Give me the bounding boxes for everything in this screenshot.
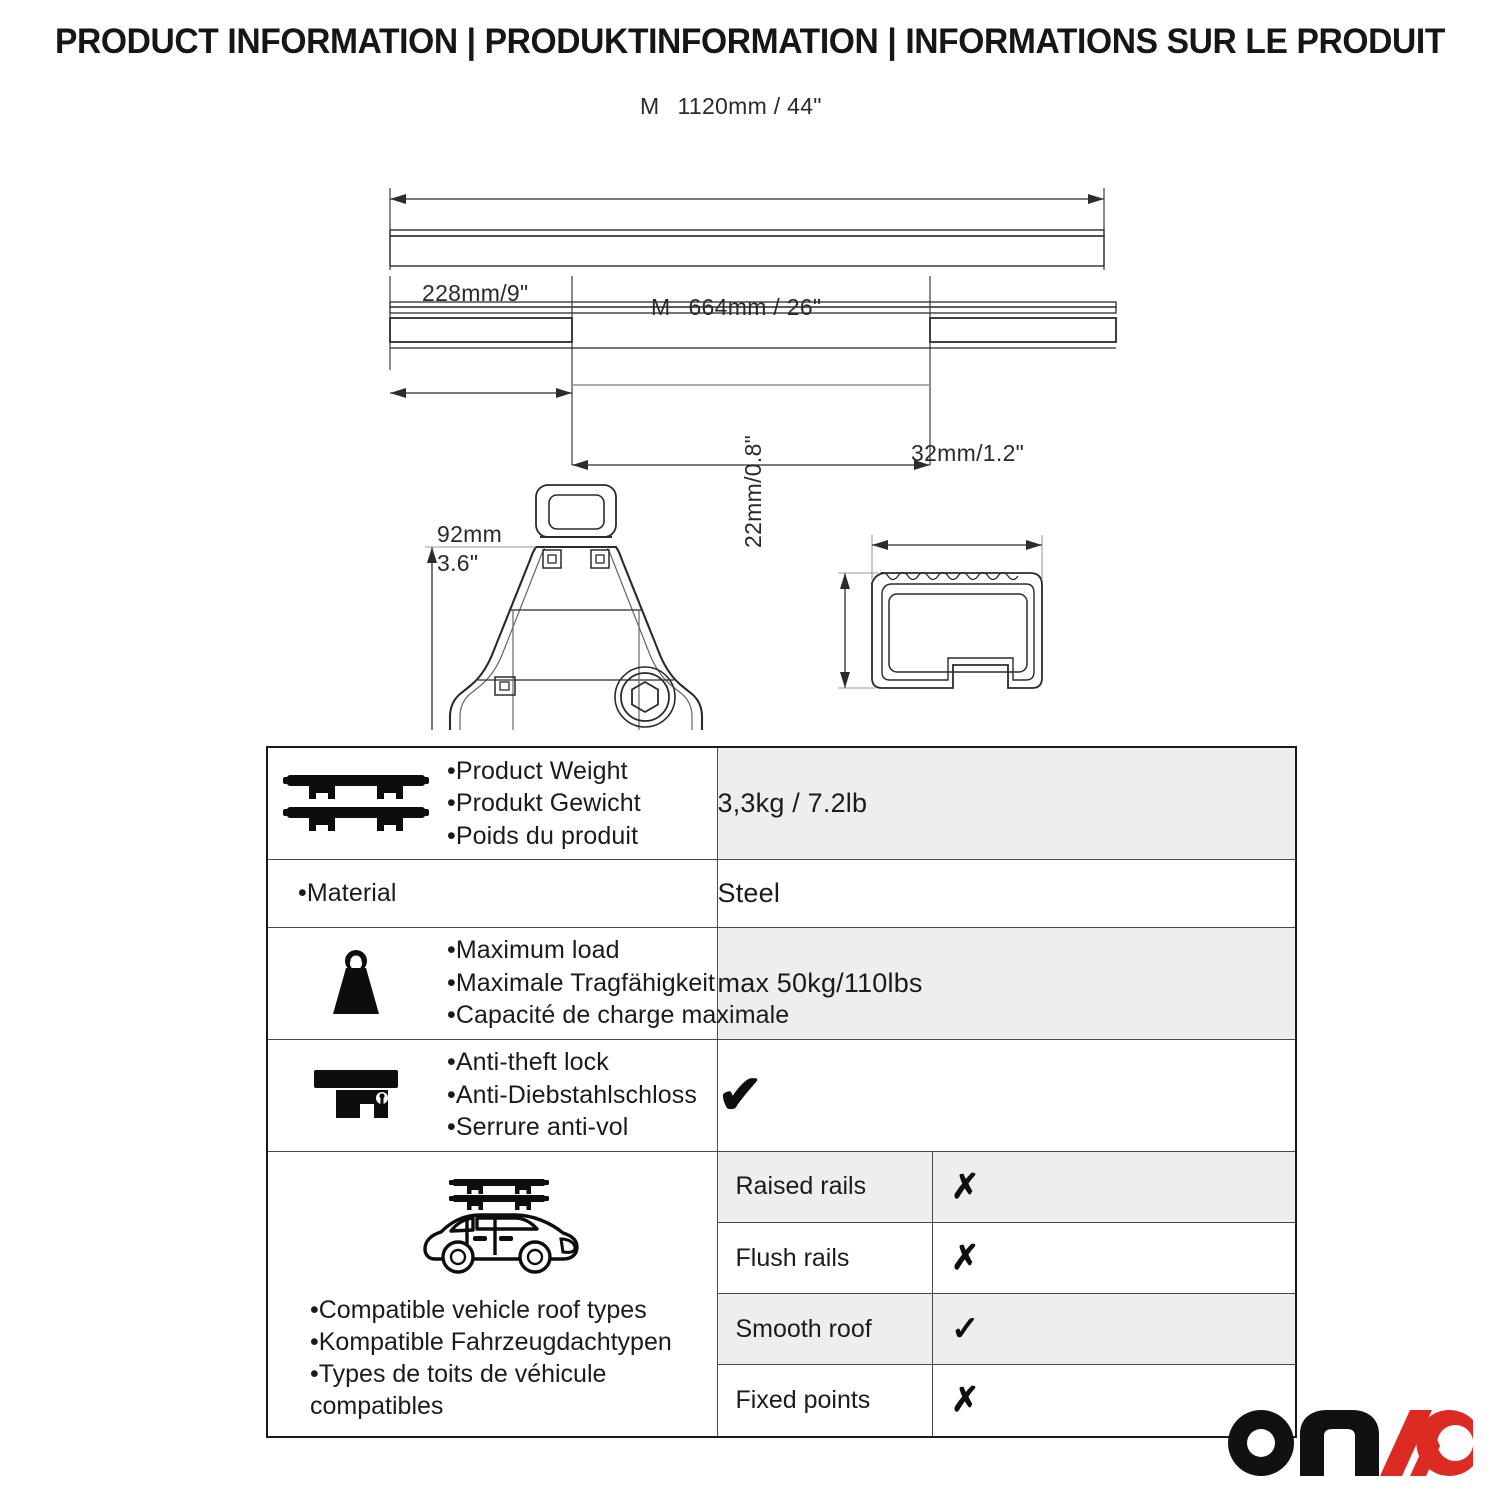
dim-foot-offset: 228mm/9" [422, 280, 528, 307]
weight-value: 3,3kg / 7.2lb [717, 747, 1296, 859]
roof-option-row: Smooth roof ✓ [718, 1294, 1296, 1365]
check-mark-icon: ✔ [718, 1065, 763, 1125]
label-line: •Product Weight [447, 755, 641, 788]
dim-spread-prefix: M [651, 294, 670, 320]
roof-option-mark-cell: ✗ [933, 1223, 1296, 1294]
label-line: •Compatible vehicle roof types [310, 1294, 672, 1326]
roof-option-name: Smooth roof [718, 1294, 933, 1365]
car-with-rack-icon [411, 1173, 586, 1288]
dim-foot-height-in: 3.6" [437, 549, 502, 578]
max-load-label-text: •Maximum load •Maximale Tragfähigkeit •C… [447, 934, 789, 1032]
label-line: •Poids du produit [447, 820, 641, 853]
roof-types-sub-table: Raised rails ✗ Flush rails ✗ [718, 1152, 1296, 1436]
material-label-text: •Material [268, 877, 397, 910]
technical-drawings [0, 80, 1500, 730]
label-line: •Capacité de charge maximale [447, 999, 789, 1032]
roof-option-mark-cell: ✗ [933, 1152, 1296, 1223]
table-row: •Anti-theft lock •Anti-Diebstahlschloss … [267, 1039, 1296, 1151]
crossbars-icon [268, 771, 443, 835]
dim-bar-length-prefix: M [640, 93, 659, 119]
material-label-cell: •Material [267, 859, 717, 927]
cross-mark-icon: ✗ [951, 1168, 980, 1206]
table-row: •Material Steel [267, 859, 1296, 927]
dim-foot-height: 92mm 3.6" [437, 520, 502, 578]
roof-option-name: Fixed points [718, 1365, 933, 1436]
dim-spread-value: 664mm / 26" [688, 294, 821, 320]
label-line: •Produkt Gewicht [447, 787, 641, 820]
check-mark-icon: ✓ [951, 1310, 980, 1348]
label-line: •Kompatible Fahrzeugdachtypen [310, 1326, 672, 1358]
roof-types-label-text: •Compatible vehicle roof types •Kompatib… [280, 1294, 672, 1422]
roof-option-name: Raised rails [718, 1152, 933, 1223]
label-line: •Anti-theft lock [447, 1046, 697, 1079]
label-line: compatibles [310, 1390, 672, 1422]
roof-types-label-cell: •Compatible vehicle roof types •Kompatib… [267, 1151, 717, 1437]
roof-option-row: Flush rails ✗ [718, 1223, 1296, 1294]
material-value: Steel [717, 859, 1296, 927]
dim-profile-height: 22mm/0.8" [740, 435, 767, 548]
dim-bar-length-value: 1120mm / 44" [677, 93, 821, 119]
lock-label-cell: •Anti-theft lock •Anti-Diebstahlschloss … [267, 1039, 717, 1151]
lock-icon [268, 1064, 443, 1126]
dim-bar-length: M1120mm / 44" [640, 93, 822, 120]
omac-logo [1224, 1406, 1474, 1480]
max-load-label-cell: •Maximum load •Maximale Tragfähigkeit •C… [267, 927, 717, 1039]
max-load-value: max 50kg/110lbs [717, 927, 1296, 1039]
lock-value: ✔ [717, 1039, 1296, 1151]
cross-mark-icon: ✗ [951, 1239, 980, 1277]
cross-mark-icon: ✗ [951, 1381, 980, 1419]
lock-label-text: •Anti-theft lock •Anti-Diebstahlschloss … [447, 1046, 697, 1144]
roof-option-row: Raised rails ✗ [718, 1152, 1296, 1223]
table-row-roof-types: •Compatible vehicle roof types •Kompatib… [267, 1151, 1296, 1437]
label-line: •Material [298, 877, 397, 910]
label-line: •Serrure anti-vol [447, 1111, 697, 1144]
weight-label-cell: •Product Weight •Produkt Gewicht •Poids … [267, 747, 717, 859]
label-line: •Anti-Diebstahlschloss [447, 1079, 697, 1112]
label-line: •Maximum load [447, 934, 789, 967]
roof-option-name: Flush rails [718, 1223, 933, 1294]
label-line: •Types de toits de véhicule [310, 1358, 672, 1390]
roof-option-row: Fixed points ✗ [718, 1365, 1296, 1436]
product-information-sheet: PRODUCT INFORMATION | PRODUKTINFORMATION… [0, 0, 1500, 1500]
page-title: PRODUCT INFORMATION | PRODUKTINFORMATION… [30, 22, 1470, 62]
table-row: •Product Weight •Produkt Gewicht •Poids … [267, 747, 1296, 859]
roof-types-options-cell: Raised rails ✗ Flush rails ✗ [717, 1151, 1296, 1437]
roof-option-mark-cell: ✓ [933, 1294, 1296, 1365]
label-line: •Maximale Tragfähigkeit [447, 967, 789, 1000]
weight-label-text: •Product Weight •Produkt Gewicht •Poids … [447, 755, 641, 853]
specification-table: •Product Weight •Produkt Gewicht •Poids … [266, 746, 1297, 1438]
dim-profile-width: 32mm/1.2" [911, 440, 1024, 467]
weight-icon [268, 948, 443, 1018]
table-row: •Maximum load •Maximale Tragfähigkeit •C… [267, 927, 1296, 1039]
dim-spread: M664mm / 26" [651, 294, 821, 321]
dim-foot-height-mm: 92mm [437, 520, 502, 549]
